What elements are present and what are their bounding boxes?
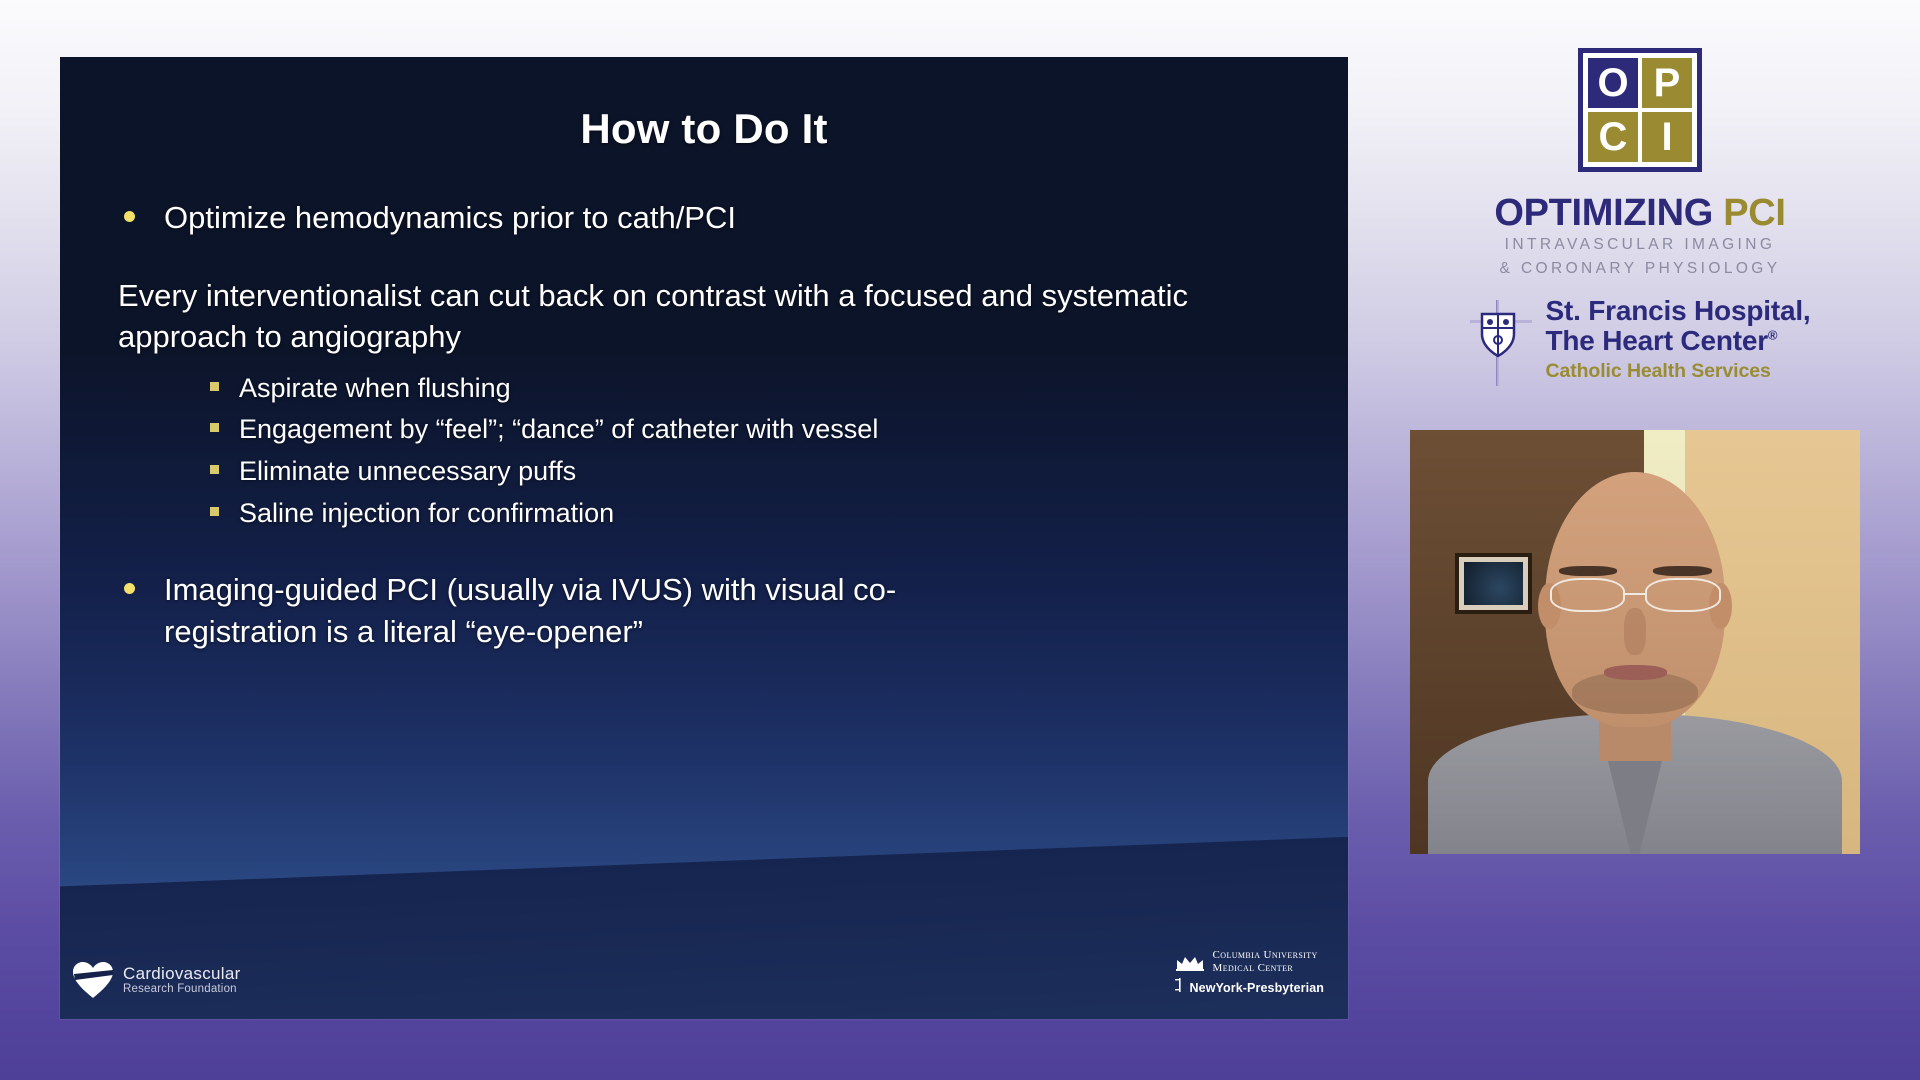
opci-logo-mark: O P C I (1578, 48, 1702, 172)
bullet-item: Every interventionalist can cut back on … (118, 275, 1308, 535)
presentation-slide[interactable]: How to Do It Optimize hemodynamics prior… (60, 57, 1348, 1019)
st-francis-hospital-logo: St. Francis Hospital, The Heart Center® … (1360, 296, 1920, 386)
wall-picture-frame (1455, 553, 1532, 614)
slide-bullet-list: Optimize hemodynamics prior to cath/PCI … (118, 197, 1308, 688)
bullet-dot-icon (124, 583, 135, 594)
opci-wordmark: OPTIMIZING PCI (1360, 192, 1920, 235)
bullet-text: Every interventionalist can cut back on … (118, 275, 1308, 358)
st-francis-text-block: St. Francis Hospital, The Heart Center® … (1546, 296, 1811, 383)
presenter-eyebrow-left (1559, 566, 1618, 576)
sub-bullet-square-icon (210, 382, 219, 391)
sub-bullet-square-icon (210, 423, 219, 432)
crown-icon (1175, 953, 1205, 971)
sub-bullet-square-icon (210, 507, 219, 516)
columbia-text: Columbia University Medical Center (1213, 949, 1318, 974)
columbia-line-2: Medical Center (1213, 962, 1318, 974)
sub-bullet-text: Aspirate when flushing (239, 368, 511, 410)
bullet-dot-icon (124, 211, 135, 222)
sub-bullet-item: Aspirate when flushing (210, 368, 878, 410)
nyp-text: NewYork-Presbyterian (1190, 981, 1324, 995)
sub-bullet-item: Engagement by “feel”; “dance” of cathete… (210, 409, 878, 451)
opci-cell-c: C (1588, 112, 1638, 162)
opci-subtitle-line-1: INTRAVASCULAR IMAGING (1360, 236, 1920, 254)
crf-line-2: Research Foundation (123, 983, 241, 995)
glasses-lens-right (1645, 578, 1720, 612)
st-francis-line-1: St. Francis Hospital, (1546, 296, 1811, 326)
st-francis-crest-icon (1470, 300, 1532, 386)
presenter-video-feed[interactable] (1410, 430, 1860, 854)
bullet-item: Optimize hemodynamics prior to cath/PCI (118, 197, 1308, 239)
sub-bullet-list: Aspirate when flushing Engagement by “fe… (210, 368, 878, 535)
presenter-nose (1624, 608, 1647, 655)
presenter-eyebrow-right (1653, 566, 1712, 576)
crf-line-1: Cardiovascular (123, 965, 241, 983)
wall-picture-mat (1459, 557, 1528, 610)
crf-logo-text: Cardiovascular Research Foundation (123, 965, 241, 995)
slide-title: How to Do It (60, 105, 1348, 153)
slide-decoration-band (60, 834, 1348, 1019)
sub-bullet-square-icon (210, 465, 219, 474)
glasses-bridge (1625, 593, 1646, 595)
st-francis-line-2: The Heart Center® (1546, 326, 1811, 356)
sub-bullet-text: Engagement by “feel”; “dance” of cathete… (239, 409, 878, 451)
right-sidebar: O P C I OPTIMIZING PCI INTRAVASCULAR IMA… (1360, 0, 1920, 1080)
sub-bullet-item: Saline injection for confirmation (210, 493, 878, 535)
opci-wordmark-optimizing: OPTIMIZING (1494, 192, 1713, 234)
st-francis-line-3: Catholic Health Services (1546, 360, 1811, 383)
opci-cell-i: I (1642, 112, 1692, 162)
opci-subtitle-line-2: & CORONARY PHYSIOLOGY (1360, 260, 1920, 278)
cardiovascular-research-foundation-logo: Cardiovascular Research Foundation (72, 961, 241, 999)
sub-bullet-item: Eliminate unnecessary puffs (210, 451, 878, 493)
st-francis-line-2-text: The Heart Center (1546, 325, 1768, 356)
heart-icon (72, 961, 114, 999)
opci-cell-o: O (1588, 58, 1638, 108)
bullet-text: Optimize hemodynamics prior to cath/PCI (164, 197, 736, 239)
nyp-mark-icon (1175, 978, 1185, 997)
sub-bullet-text: Eliminate unnecessary puffs (239, 451, 576, 493)
columbia-line-1: Columbia University (1213, 949, 1318, 961)
bullet-item: Imaging-guided PCI (usually via IVUS) wi… (118, 569, 1308, 652)
opci-wordmark-pci: PCI (1723, 192, 1785, 234)
glasses-lens-left (1550, 578, 1625, 612)
opci-cell-p: P (1642, 58, 1692, 108)
bullet-text: Imaging-guided PCI (usually via IVUS) wi… (164, 569, 994, 652)
registered-mark: ® (1768, 328, 1777, 343)
columbia-nyp-logo: Columbia University Medical Center NewYo… (1175, 949, 1324, 997)
sub-bullet-text: Saline injection for confirmation (239, 493, 614, 535)
presenter-mouth (1604, 665, 1667, 679)
